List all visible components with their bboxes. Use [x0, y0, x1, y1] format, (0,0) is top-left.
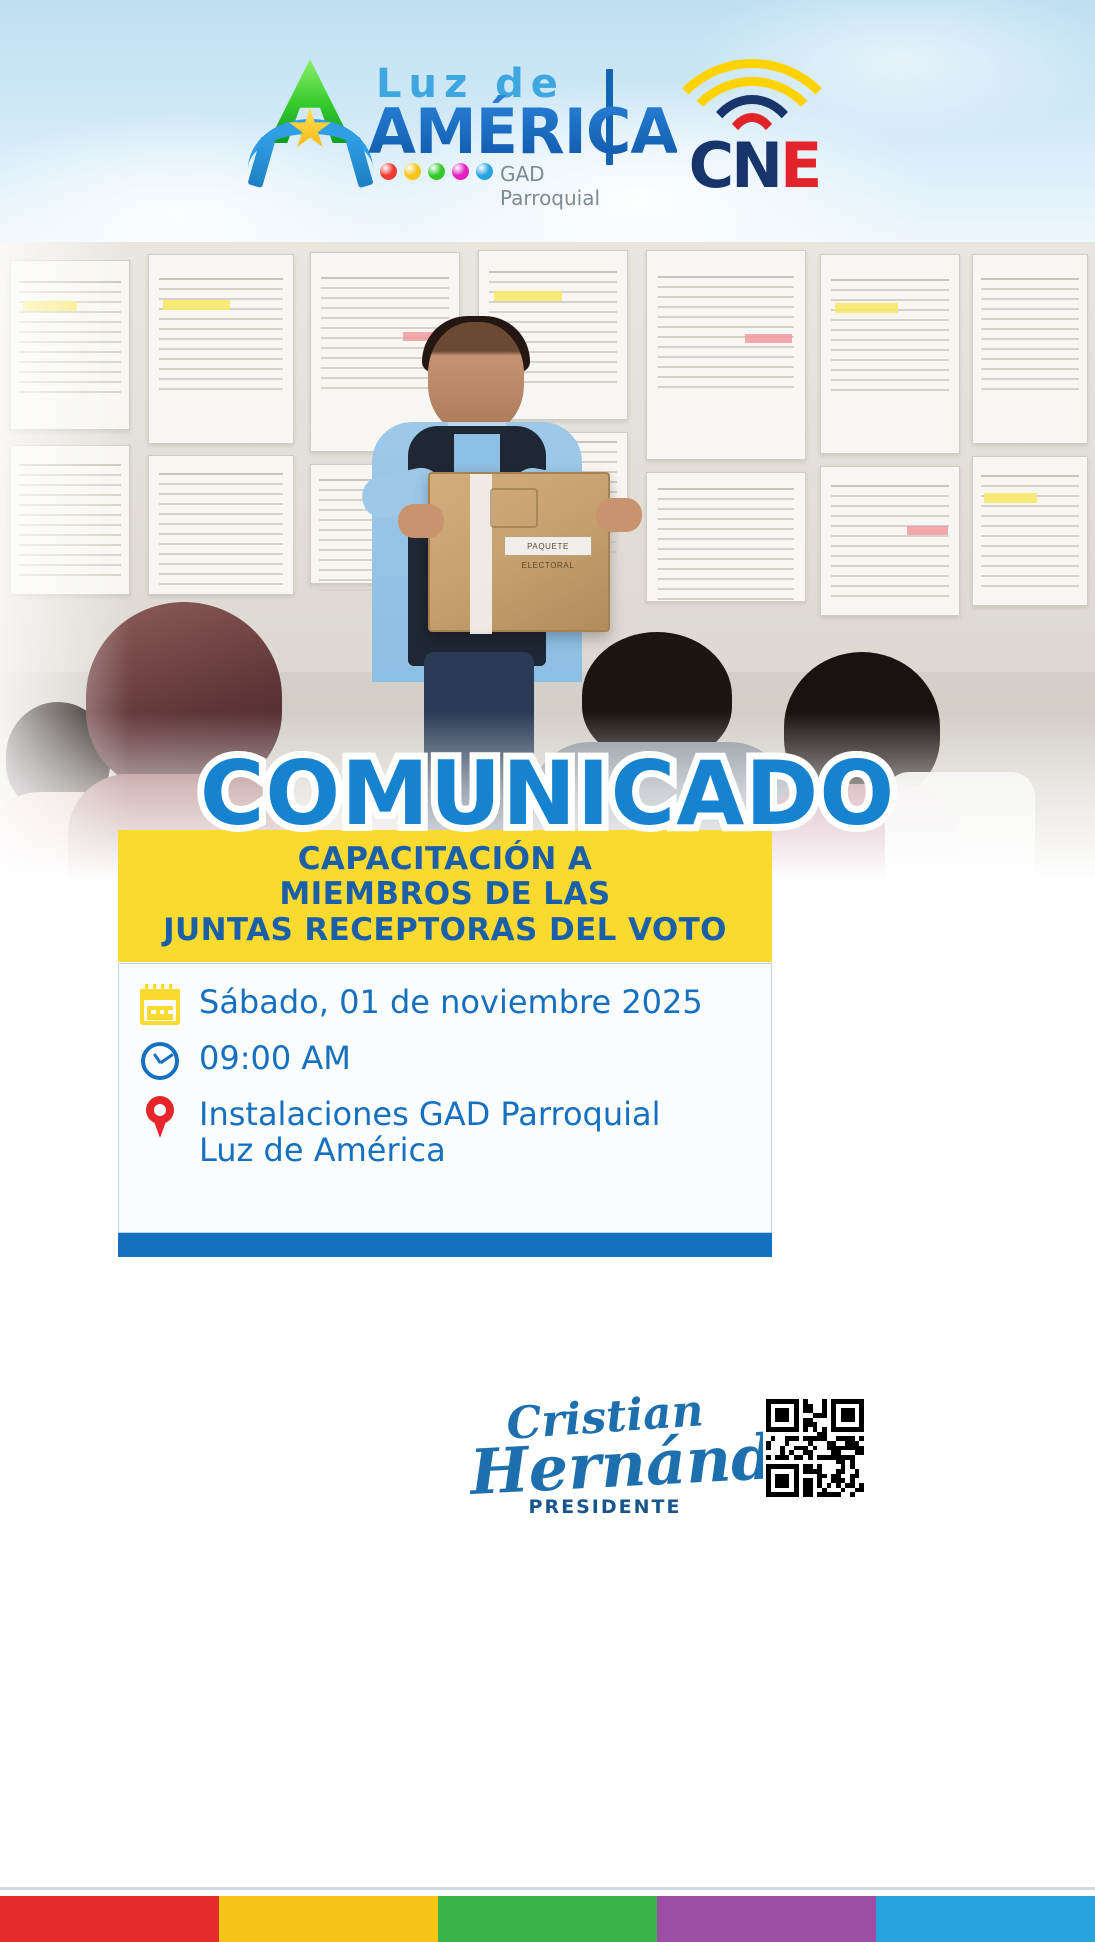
detail-row-time: 09:00 AM	[119, 1040, 771, 1082]
cne-text-cn: CN	[689, 129, 780, 202]
qr-code[interactable]	[763, 1396, 867, 1500]
details-bottom-strip	[118, 1233, 772, 1257]
footer-color-segment	[438, 1896, 657, 1942]
footer-color-segment	[876, 1896, 1095, 1942]
cne-logo: CNE	[647, 51, 857, 191]
logo-dots	[380, 163, 493, 180]
logo-dot	[452, 163, 469, 180]
announcement-banner-lines: CAPACITACIÓN A MIEMBROS DE LAS JUNTAS RE…	[128, 842, 762, 948]
qr-code-matrix	[766, 1399, 864, 1497]
banner-line-3: JUNTAS RECEPTORAS DEL VOTO	[128, 913, 762, 948]
signature-block: Cristian Hernández PRESIDENTE	[470, 1392, 740, 1542]
signature-last-name: Hernández	[468, 1422, 741, 1509]
header-banner: Luz de AMÉRICA GAD Parroquial CNE	[0, 0, 1095, 242]
announcement-banner: CAPACITACIÓN A MIEMBROS DE LAS JUNTAS RE…	[118, 830, 772, 962]
banner-line-2: MIEMBROS DE LAS	[128, 877, 762, 912]
logo-dot	[380, 163, 397, 180]
detail-row-date: Sábado, 01 de noviembre 2025	[119, 984, 771, 1026]
cne-wordmark: CNE	[659, 129, 849, 202]
logo-dot	[404, 163, 421, 180]
detail-location-line1: Instalaciones GAD Parroquial	[199, 1096, 661, 1132]
luz-de-america-logo: Luz de AMÉRICA GAD Parroquial	[238, 51, 578, 191]
footer-color-segment	[219, 1896, 438, 1942]
logo-line2: AMÉRICA	[368, 95, 677, 168]
calendar-icon	[137, 984, 183, 1026]
logo-subtitle: GAD Parroquial	[500, 162, 600, 210]
detail-row-location: Instalaciones GAD Parroquial Luz de Amér…	[119, 1096, 771, 1169]
detail-location-text: Instalaciones GAD Parroquial Luz de Amér…	[199, 1096, 661, 1169]
footer-color-bar	[0, 1896, 1095, 1942]
footer-color-segment	[0, 1896, 219, 1942]
logo-dot	[428, 163, 445, 180]
event-details-box: Sábado, 01 de noviembre 2025 09:00 AM In…	[118, 963, 772, 1233]
photo-box-label: PAQUETE ELECTORAL	[504, 536, 592, 556]
footer-color-segment	[657, 1896, 876, 1942]
detail-time-text: 09:00 AM	[199, 1040, 351, 1076]
detail-location-line2: Luz de América	[199, 1132, 661, 1168]
cne-text-e: E	[780, 129, 819, 202]
clock-icon	[137, 1040, 183, 1082]
footer-divider	[0, 1887, 1095, 1890]
location-pin-icon	[137, 1096, 183, 1142]
logo-dot	[476, 163, 493, 180]
luz-de-america-emblem-icon	[248, 59, 373, 181]
logo-row: Luz de AMÉRICA GAD Parroquial CNE	[0, 0, 1095, 242]
banner-line-1: CAPACITACIÓN A	[128, 842, 762, 877]
photo-hand-right	[596, 498, 642, 532]
photo-hand-left	[398, 504, 444, 538]
photo-electoral-box: PAQUETE ELECTORAL	[428, 472, 610, 632]
page-title: COMUNICADO	[0, 742, 1095, 845]
detail-date-text: Sábado, 01 de noviembre 2025	[199, 984, 703, 1020]
